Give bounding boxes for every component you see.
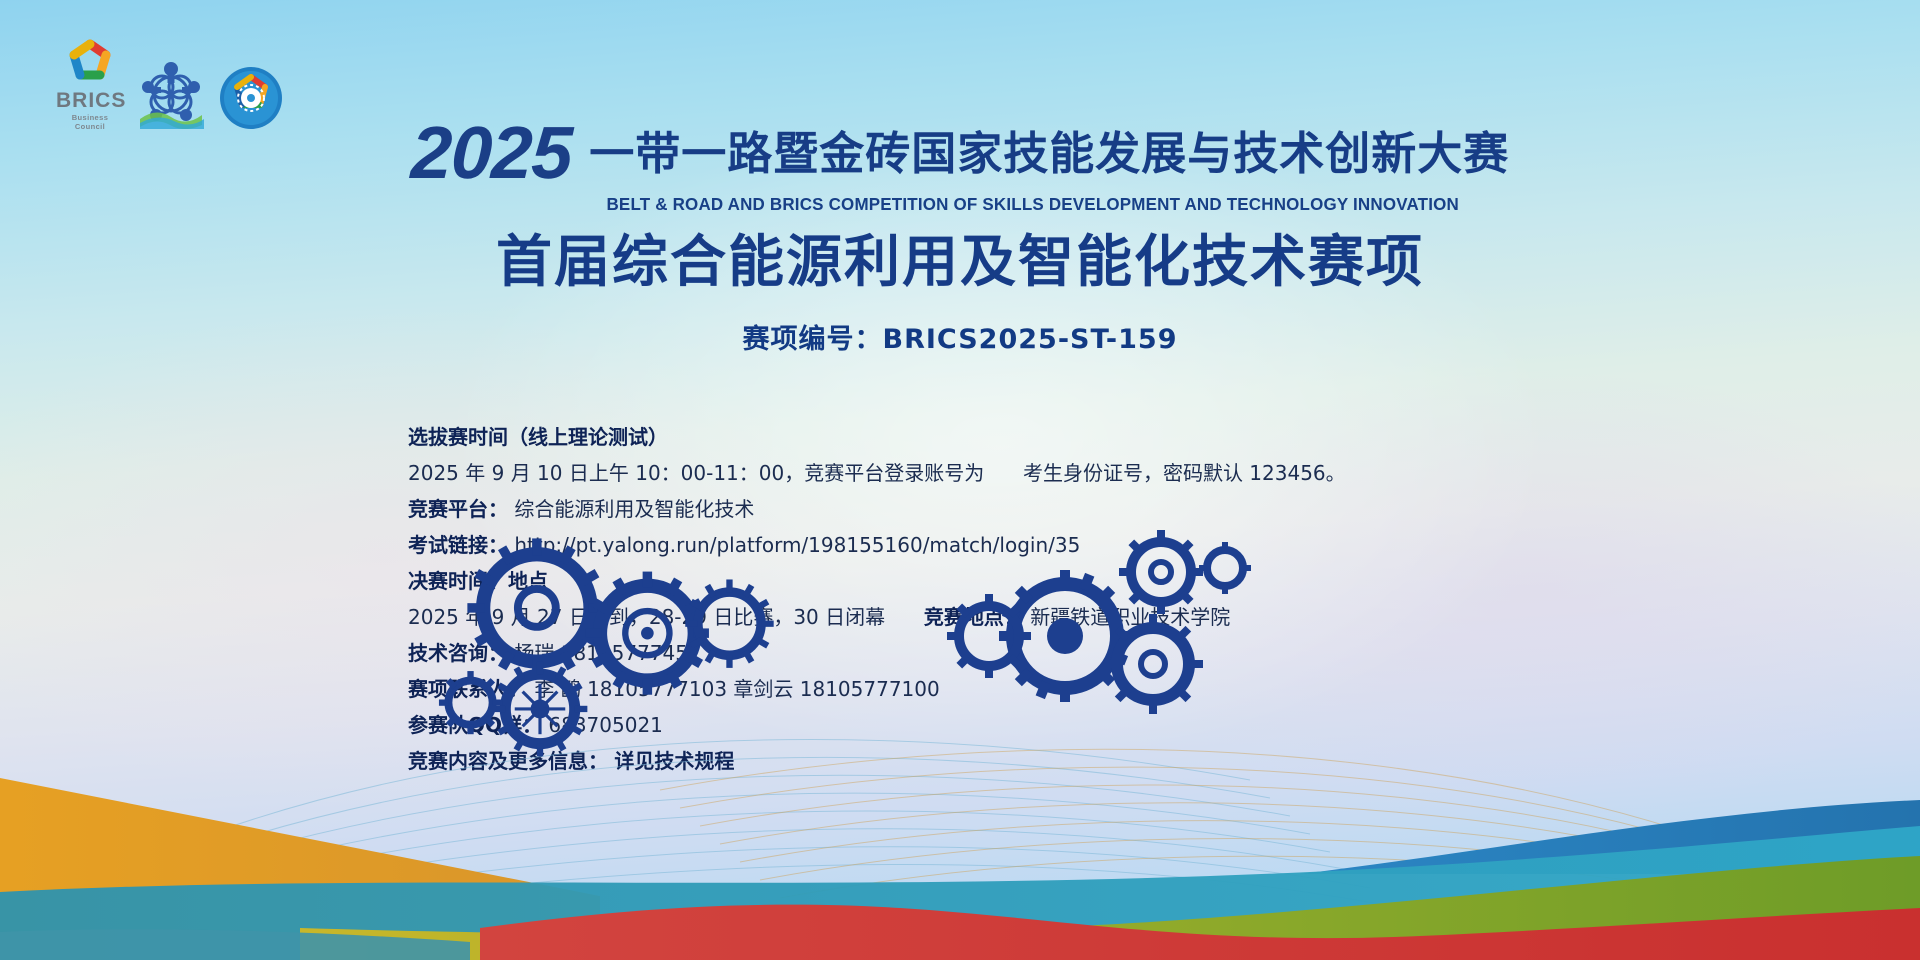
- event-title-cn: 首届综合能源利用及智能化技术赛项: [0, 231, 1920, 295]
- title-block: 2025 一带一路暨金砖国家技能发展与技术创新大赛 BELT & ROAD AN…: [0, 120, 1920, 356]
- logo-group: BRICS Business Council: [56, 36, 284, 131]
- selection-heading: 选拔赛时间（线上理论测试）: [408, 425, 668, 449]
- title-line-primary: 2025 一带一路暨金砖国家技能发展与技术创新大赛: [0, 120, 1920, 187]
- brics-star-icon: [62, 36, 118, 88]
- poster-canvas: BRICS Business Council: [0, 0, 1920, 960]
- event-code: 赛项编号：BRICS2025-ST-159: [0, 317, 1920, 356]
- info-row-selection-heading: 选拔赛时间（线上理论测试）: [408, 424, 1588, 451]
- competition-title-en: BELT & ROAD AND BRICS COMPETITION OF SKI…: [29, 194, 1891, 215]
- competition-title-cn: 一带一路暨金砖国家技能发展与技术创新大赛: [589, 131, 1509, 176]
- competition-year: 2025: [410, 120, 573, 187]
- bottom-decoration: [0, 660, 1920, 960]
- brics-business-council-logo: BRICS Business Council: [56, 36, 124, 131]
- gear-cluster-right: [0, 510, 1560, 810]
- brics-wordmark: BRICS: [56, 90, 124, 111]
